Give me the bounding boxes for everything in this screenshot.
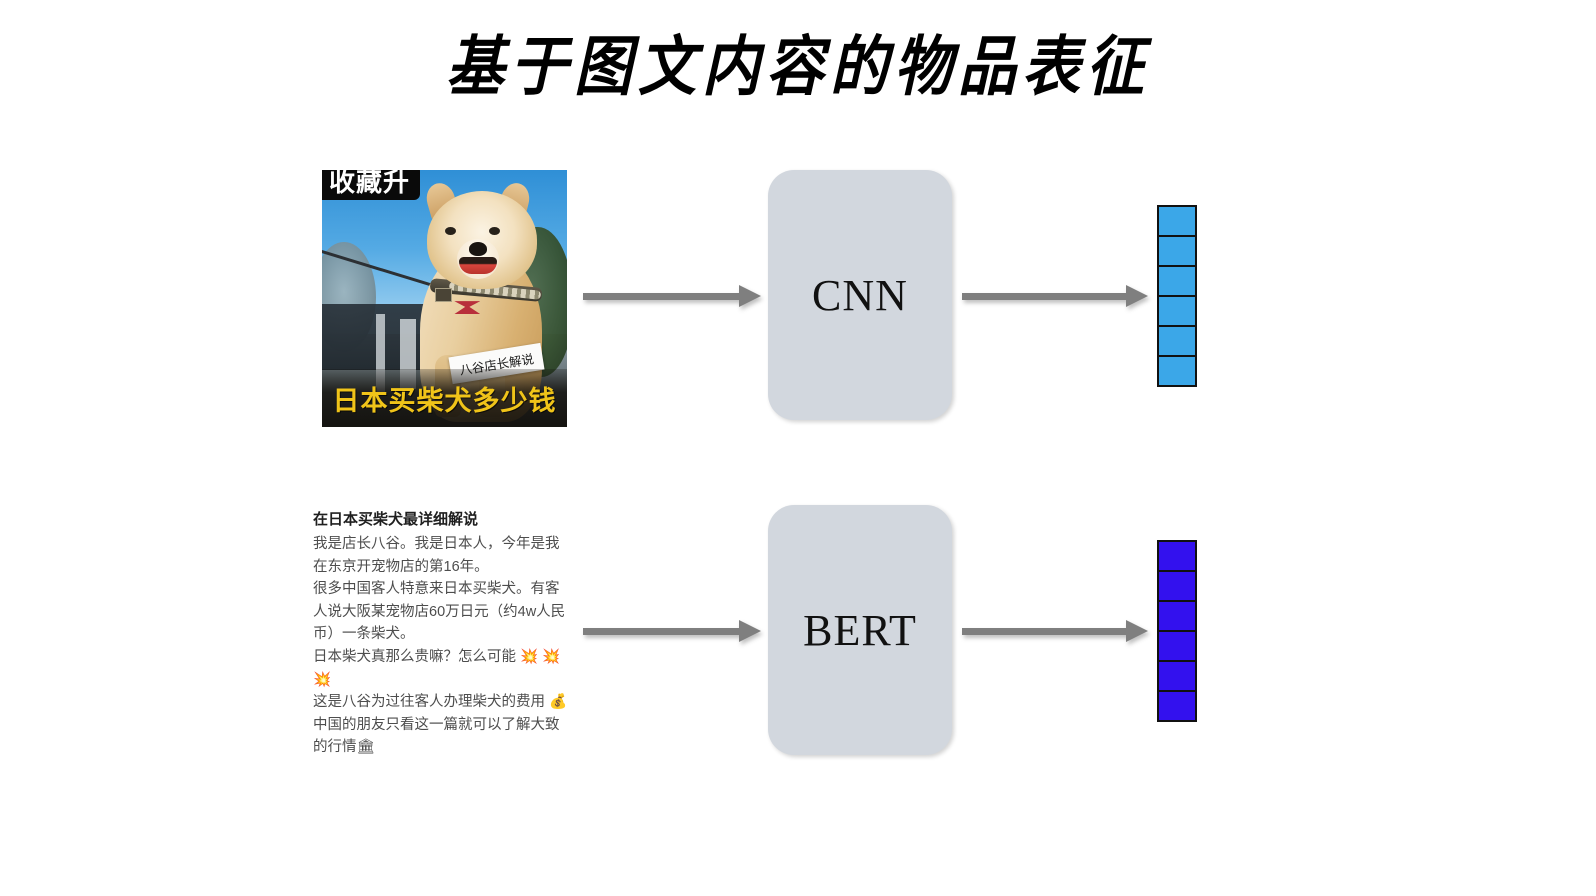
arrow-head-icon [739, 620, 761, 642]
arrow-head-icon [1126, 285, 1148, 307]
text-content-line: 我是店长八谷。我是日本人，今年是我在东京开宠物店的第16年。 [313, 533, 569, 578]
arrow-head-icon [739, 285, 761, 307]
arrow-shaft [962, 293, 1126, 300]
vector-cell [1159, 207, 1195, 237]
cover-image-thumbnail: 收藏升 八谷店长解说 日本买柴犬多少钱 [322, 170, 567, 427]
page-title: 基于图文内容的物品表征 [0, 14, 1596, 108]
dog-eye-right [489, 227, 500, 235]
text-embedding-vector [1157, 540, 1197, 722]
vector-cell [1159, 602, 1195, 632]
arrow-head-icon [1126, 620, 1148, 642]
image-caption-text: 日本买柴犬多少钱 [333, 379, 557, 418]
text-to-bert-arrow [583, 620, 761, 642]
vector-cell [1159, 662, 1195, 692]
dog-nose [469, 242, 487, 256]
image-caption-bar: 日本买柴犬多少钱 [322, 369, 567, 427]
image-top-badge: 收藏升 [322, 170, 420, 200]
vector-cell [1159, 692, 1195, 720]
cnn-to-vector-arrow [962, 285, 1148, 307]
dog-collar-tag [435, 288, 452, 302]
arrow-shaft [583, 628, 739, 635]
vector-cell [1159, 327, 1195, 357]
vector-cell [1159, 632, 1195, 662]
text-content-title: 在日本买柴犬最详细解说 [313, 508, 569, 532]
vector-cell [1159, 542, 1195, 572]
vector-cell [1159, 237, 1195, 267]
arrow-shaft [962, 628, 1126, 635]
vector-cell [1159, 572, 1195, 602]
vector-cell [1159, 297, 1195, 327]
vector-cell [1159, 267, 1195, 297]
bert-model-label: BERT [803, 605, 917, 656]
image-embedding-vector [1157, 205, 1197, 387]
dog-eye-left [445, 227, 456, 235]
image-to-cnn-arrow [583, 285, 761, 307]
bert-model-box: BERT [768, 505, 952, 755]
dog-mouth [459, 257, 497, 274]
text-content-line: 这是八谷为过往客人办理柴犬的费用 💰 [313, 691, 569, 714]
cnn-model-box: CNN [768, 170, 952, 420]
item-text-content: 在日本买柴犬最详细解说 我是店长八谷。我是日本人，今年是我在东京开宠物店的第16… [313, 508, 569, 759]
cnn-model-label: CNN [812, 270, 908, 321]
arrow-shaft [583, 293, 739, 300]
bert-to-vector-arrow [962, 620, 1148, 642]
text-content-line: 日本柴犬真那么贵嘛？怎么可能 💥 💥 💥 [313, 646, 569, 691]
text-content-line: 中国的朋友只看这一篇就可以了解大致的行情🏛 [313, 714, 569, 759]
vector-cell [1159, 357, 1195, 385]
text-content-line: 很多中国客人特意来日本买柴犬。有客人说大阪某宠物店60万日元（约4w人民币）一条… [313, 578, 569, 646]
